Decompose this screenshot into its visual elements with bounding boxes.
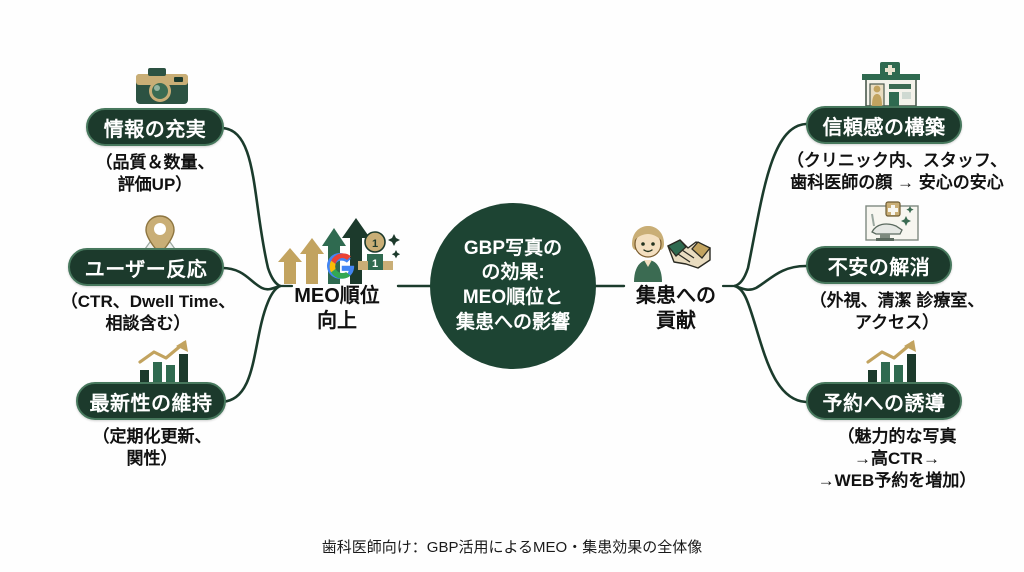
meo-hub-label: MEO順位 向上 <box>272 284 402 334</box>
left-item-3-detail: （定期化更新、 関性） <box>52 426 252 470</box>
right-item-1-pill[interactable]: 信頼感の構築 <box>806 106 962 144</box>
diagram-canvas: 情報の充実 （品質＆数量、 評価UP） ユーザー反応 （CTR、Dwell Ti… <box>0 0 1024 572</box>
patient-handshake-icons <box>622 222 724 284</box>
left-item-2-detail: （CTR、Dwell Time、 相談含む） <box>40 291 256 335</box>
bar-chart-growth-icon <box>134 340 198 386</box>
svg-text:1: 1 <box>372 238 378 250</box>
left-item-1-pill[interactable]: 情報の充実 <box>86 108 224 146</box>
patient-hub-label: 集患への 貢献 <box>620 284 732 334</box>
right-item-2-pill[interactable]: 不安の解消 <box>806 246 952 284</box>
right-item-1-detail: （クリニック内、スタッフ、 歯科医師の顔 → 安心の安心 <box>772 150 1022 194</box>
camera-icon <box>128 60 196 108</box>
left-item-1-label: 情報の充実 <box>104 113 207 142</box>
dental-chair-icon <box>860 200 924 248</box>
right-item-1-label: 信頼感の構築 <box>823 111 946 140</box>
clinic-building-icon <box>858 60 924 108</box>
left-item-1-detail: （品質＆数量、 評価UP） <box>55 152 255 196</box>
center-line-1: GBP写真の <box>464 237 562 262</box>
left-item-2-label: ユーザー反応 <box>85 253 208 282</box>
svg-text:1: 1 <box>372 258 378 270</box>
center-line-4: 集患への影響 <box>456 311 570 336</box>
meo-hub-icons: 1 1 <box>272 216 400 284</box>
right-item-2-label: 不安の解消 <box>828 251 931 280</box>
center-circle: GBP写真の の効果: MEO順位と 集患への影響 <box>430 203 596 369</box>
right-item-3-pill[interactable]: 予約への誘導 <box>806 382 962 420</box>
left-item-3-label: 最新性の維持 <box>90 387 213 416</box>
center-line-2: の効果: <box>481 261 544 286</box>
right-item-2-detail: （外視、清潔 診療室、 アクセス） <box>778 290 1016 334</box>
left-item-3-pill[interactable]: 最新性の維持 <box>76 382 226 420</box>
left-item-2-pill[interactable]: ユーザー反応 <box>68 248 224 286</box>
figure-caption: 歯科医師向け：GBP活用によるMEO・集患効果の全体像 <box>0 536 1024 557</box>
right-item-3-label: 予約への誘導 <box>823 387 946 416</box>
right-item-3-detail: （魅力的な写真 →高CTR→ →WEB予約を増加） <box>778 426 1016 491</box>
bar-chart-growth-icon-right <box>862 340 926 386</box>
center-line-3: MEO順位と <box>463 286 563 311</box>
